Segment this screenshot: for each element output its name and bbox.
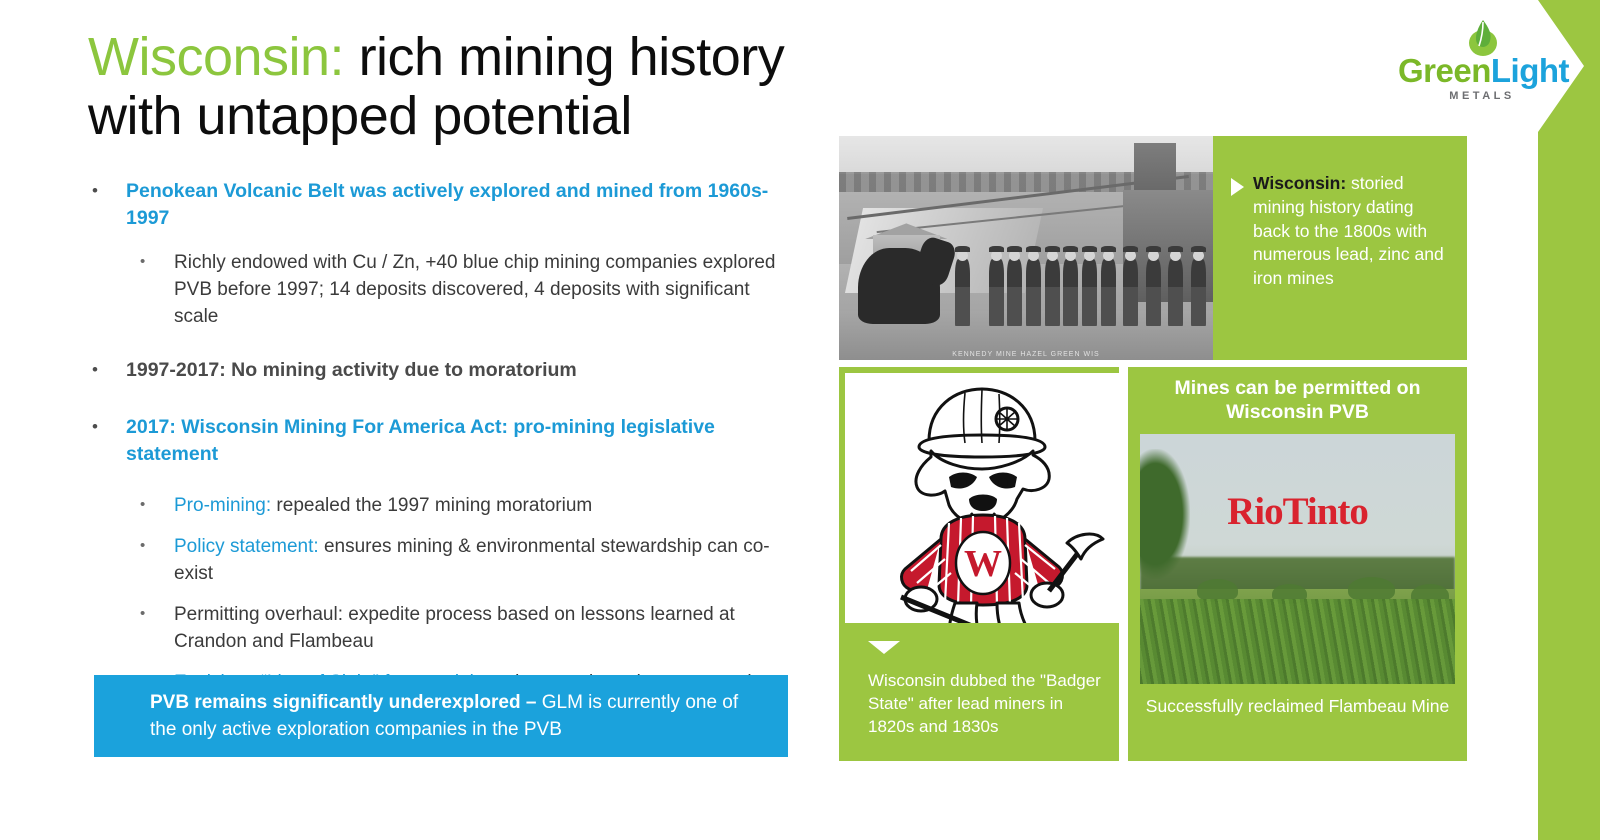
bullet-lead: Policy statement: xyxy=(174,536,319,557)
photo-miner xyxy=(1026,259,1041,326)
bullet-level1-penokean: • Penokean Volcanic Belt was actively ex… xyxy=(88,178,788,232)
photo-embedded-caption: KENNEDY MINE HAZEL GREEN WIS xyxy=(839,351,1213,358)
spacer xyxy=(88,333,788,357)
panel-badger-state: W Wisconsin dubbed the "Badge xyxy=(839,367,1119,761)
badger-caption-block: Wisconsin dubbed the "Badger State" afte… xyxy=(842,623,1122,761)
page-title-highlight: Wisconsin: xyxy=(88,27,344,87)
bullet-level1-moratorium: • 1997-2017: No mining activity due to m… xyxy=(88,357,788,384)
bullet-text: Richly endowed with Cu / Zn, +40 blue ch… xyxy=(174,250,788,331)
green-note-wisconsin-history: Wisconsin: storied mining history dating… xyxy=(1213,136,1467,360)
triangle-down-icon xyxy=(868,641,900,654)
bullet-text: Penokean Volcanic Belt was actively expl… xyxy=(126,178,788,232)
photo-miner xyxy=(955,259,970,326)
bullet-text: 1997-2017: No mining activity due to mor… xyxy=(126,357,577,384)
flambeau-reclaimed-photo: RioTinto xyxy=(1140,434,1455,684)
badger-caption-text: Wisconsin dubbed the "Badger State" afte… xyxy=(868,669,1112,738)
bullet-marker: • xyxy=(140,602,174,656)
triangle-right-icon xyxy=(1231,178,1244,196)
photo-miner xyxy=(1168,259,1183,326)
bullet-body: repealed the 1997 mining moratorium xyxy=(271,495,592,516)
photo-miner xyxy=(1082,259,1097,326)
scene-foreground-grass xyxy=(1140,599,1455,684)
photo-miner xyxy=(989,259,1004,326)
photo-miner xyxy=(1146,259,1161,326)
bullet-marker: • xyxy=(88,414,126,468)
spacer xyxy=(88,658,788,670)
bullet-marker: • xyxy=(88,178,126,232)
riotinto-wordmark: RioTinto xyxy=(1140,489,1455,534)
bullet-level2-richly-endowed: • Richly endowed with Cu / Zn, +40 blue … xyxy=(140,250,788,331)
callout-bold-text: PVB remains significantly underexplored … xyxy=(150,692,542,713)
panel-historic-mining: KENNEDY MINE HAZEL GREEN WIS Wisconsin: … xyxy=(839,136,1467,360)
logo-subtitle: METALS xyxy=(1398,90,1566,102)
photo-miner xyxy=(1101,259,1116,326)
photo-miner xyxy=(1045,259,1060,326)
spacer xyxy=(88,238,788,250)
photo-miner xyxy=(1007,259,1022,326)
flambeau-scene: RioTinto xyxy=(1140,434,1455,684)
mines-caption-text: Successfully reclaimed Flambeau Mine xyxy=(1128,684,1467,761)
spacer xyxy=(88,473,788,493)
logo-wordmark: GreenLight xyxy=(1398,54,1566,87)
photo-miner xyxy=(1063,259,1078,326)
scene-bush xyxy=(1348,577,1395,602)
bucky-badger-image: W xyxy=(845,373,1119,623)
historic-mine-photo: KENNEDY MINE HAZEL GREEN WIS xyxy=(839,136,1213,360)
bullet-marker: • xyxy=(140,493,174,520)
panel-mines-permitted: Mines can be permitted on Wisconsin PVB … xyxy=(1128,367,1467,761)
spacer xyxy=(88,522,788,534)
bullet-text: Policy statement: ensures mining & envir… xyxy=(174,534,788,588)
mines-panel-heading: Mines can be permitted on Wisconsin PVB xyxy=(1128,367,1467,434)
bullet-level1-mining-for-america-act: • 2017: Wisconsin Mining For America Act… xyxy=(88,414,788,468)
bullet-text: Pro-mining: repealed the 1997 mining mor… xyxy=(174,493,592,520)
svg-text:W: W xyxy=(964,543,1002,585)
green-note-lead: Wisconsin: xyxy=(1253,173,1346,193)
slide-canvas: GreenLight METALS Wisconsin: rich mining… xyxy=(0,0,1600,840)
spacer xyxy=(88,390,788,414)
logo-word-blue: Light xyxy=(1491,52,1569,89)
bullet-marker: • xyxy=(140,250,174,331)
bullet-marker: • xyxy=(140,534,174,588)
greenlight-metals-logo: GreenLight METALS xyxy=(1398,18,1566,104)
green-note-text: Wisconsin: storied mining history dating… xyxy=(1253,172,1451,291)
bullet-lead: Pro-mining: xyxy=(174,495,271,516)
bullet-text: Permitting overhaul: expedite process ba… xyxy=(174,602,788,656)
page-title: Wisconsin: rich mining history with unta… xyxy=(88,28,888,146)
bullet-list: • Penokean Volcanic Belt was actively ex… xyxy=(88,178,788,726)
historic-photo-scene: KENNEDY MINE HAZEL GREEN WIS xyxy=(839,136,1213,360)
photo-miner xyxy=(1123,259,1138,326)
logo-word-green: Green xyxy=(1398,52,1491,89)
bullet-text: 2017: Wisconsin Mining For America Act: … xyxy=(126,414,788,468)
bullet-marker: • xyxy=(88,357,126,384)
bullet-level2-permitting-overhaul: • Permitting overhaul: expedite process … xyxy=(140,602,788,656)
spacer xyxy=(88,590,788,602)
bullet-level2-policy-statement: • Policy statement: ensures mining & env… xyxy=(140,534,788,588)
bullet-level2-pro-mining: • Pro-mining: repealed the 1997 mining m… xyxy=(140,493,788,520)
right-edge-accent-bar xyxy=(1538,0,1600,840)
callout-box-pvb-underexplored: PVB remains significantly underexplored … xyxy=(94,675,788,757)
photo-miner xyxy=(1191,259,1206,326)
